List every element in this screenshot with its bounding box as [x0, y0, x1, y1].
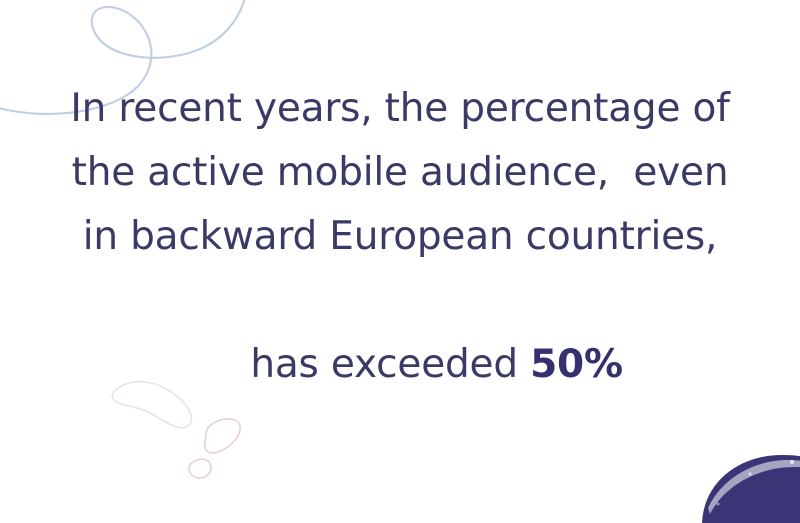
quote-text-block: In recent years, the percentage of the a… [0, 0, 800, 523]
quote-line-3: in backward European countries, [83, 205, 718, 269]
quote-line-1: In recent years, the percentage of [70, 77, 729, 141]
quote-line-4-prefix: has exceeded [250, 342, 530, 387]
quote-line-2: the active mobile audience, even [72, 141, 729, 205]
quote-slide: In recent years, the percentage of the a… [0, 0, 800, 523]
statistic-value: 50% [530, 342, 623, 387]
quote-line-4: has exceeded 50% [177, 269, 623, 461]
